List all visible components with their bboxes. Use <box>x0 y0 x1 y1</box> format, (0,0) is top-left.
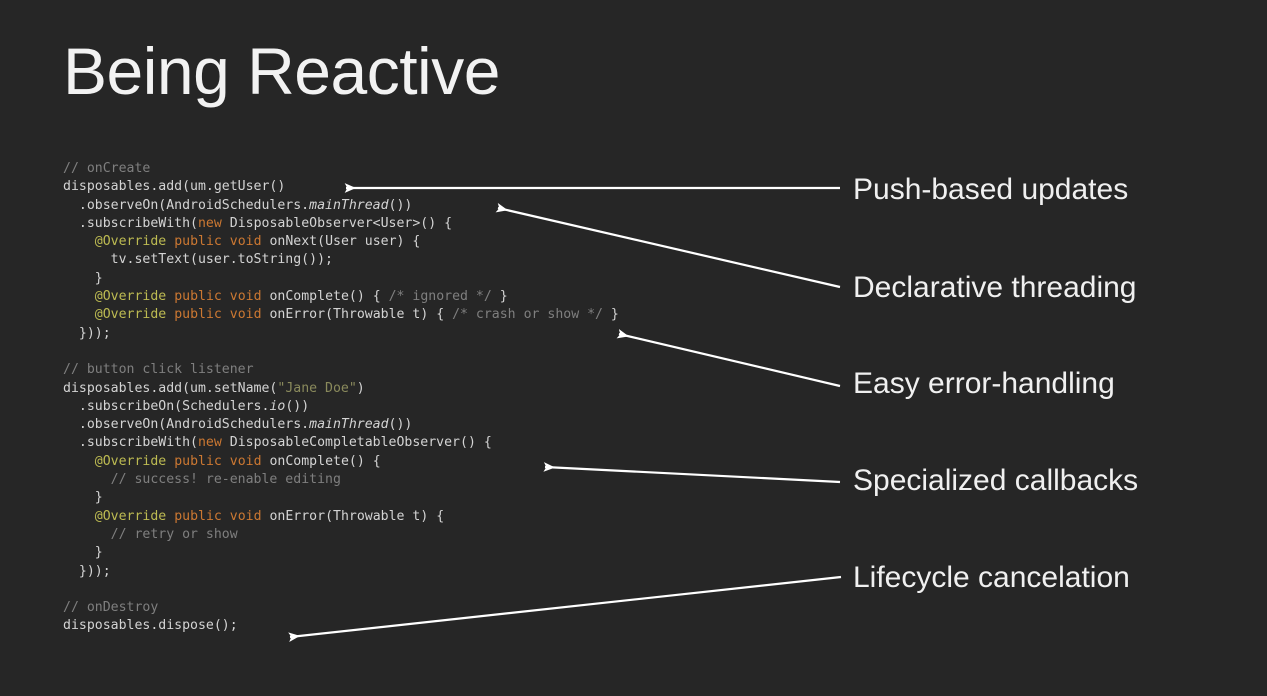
code-line <box>63 343 823 361</box>
code-line: disposables.dispose(); <box>63 617 823 635</box>
code-line: disposables.add(um.setName("Jane Doe") <box>63 380 823 398</box>
code-line: tv.setText(user.toString()); <box>63 251 823 269</box>
code-token: mainThread <box>309 198 388 213</box>
code-token: // onDestroy <box>63 600 158 615</box>
code-token <box>63 234 95 249</box>
code-token: })); <box>63 326 111 341</box>
code-token <box>222 509 230 524</box>
code-token: @Override <box>95 509 166 524</box>
code-line: @Override public void onError(Throwable … <box>63 306 823 324</box>
code-token: onComplete() { <box>262 454 381 469</box>
code-line: // retry or show <box>63 526 823 544</box>
code-token: ()) <box>389 198 413 213</box>
code-token: void <box>230 509 262 524</box>
code-line: @Override public void onComplete() { /* … <box>63 288 823 306</box>
code-token <box>63 454 95 469</box>
code-token: void <box>230 234 262 249</box>
code-line: disposables.add(um.getUser() <box>63 178 823 196</box>
code-token: mainThread <box>309 417 388 432</box>
code-token: public <box>174 234 222 249</box>
annotation-label-1: Push-based updates <box>853 175 1128 205</box>
annotation-label-5: Lifecycle cancelation <box>853 563 1130 593</box>
code-line: .subscribeOn(Schedulers.io()) <box>63 398 823 416</box>
code-token <box>166 307 174 322</box>
code-token: ()) <box>285 399 309 414</box>
code-token <box>63 289 95 304</box>
code-token: public <box>174 454 222 469</box>
code-line: // button click listener <box>63 361 823 379</box>
code-token: @Override <box>95 307 166 322</box>
code-token <box>222 234 230 249</box>
code-token: public <box>174 289 222 304</box>
code-token: disposables.add(um.setName( <box>63 381 277 396</box>
code-token: @Override <box>95 454 166 469</box>
code-token: } <box>63 271 103 286</box>
code-token: } <box>63 545 103 560</box>
code-token: // retry or show <box>111 527 238 542</box>
code-token: // success! re-enable editing <box>111 472 341 487</box>
page-title: Being Reactive <box>63 38 500 104</box>
code-line: .subscribeWith(new DisposableCompletable… <box>63 434 823 452</box>
code-line: // success! re-enable editing <box>63 471 823 489</box>
code-line: .subscribeWith(new DisposableObserver<Us… <box>63 215 823 233</box>
code-token <box>63 527 111 542</box>
code-token: public <box>174 509 222 524</box>
code-token <box>166 289 174 304</box>
code-line: @Override public void onComplete() { <box>63 453 823 471</box>
code-token: .subscribeWith( <box>63 216 198 231</box>
code-token: // onCreate <box>63 161 150 176</box>
code-line <box>63 581 823 599</box>
code-token: /* ignored */ <box>389 289 492 304</box>
code-token <box>166 234 174 249</box>
code-line: @Override public void onError(Throwable … <box>63 508 823 526</box>
code-token: .subscribeWith( <box>63 435 198 450</box>
code-token: new <box>198 216 222 231</box>
code-line: })); <box>63 325 823 343</box>
code-token <box>63 472 111 487</box>
code-block: // onCreatedisposables.add(um.getUser() … <box>63 160 823 636</box>
code-token: .observeOn(AndroidSchedulers. <box>63 198 309 213</box>
code-token: } <box>63 490 103 505</box>
code-line: .observeOn(AndroidSchedulers.mainThread(… <box>63 416 823 434</box>
code-token <box>166 454 174 469</box>
code-token: disposables.add(um.getUser() <box>63 179 285 194</box>
code-token: "Jane Doe" <box>277 381 356 396</box>
code-token: } <box>492 289 508 304</box>
code-token: disposables.dispose(); <box>63 618 238 633</box>
code-token: new <box>198 435 222 450</box>
code-token: } <box>603 307 619 322</box>
code-line: })); <box>63 563 823 581</box>
code-token: tv.setText(user.toString()); <box>63 252 333 267</box>
code-token: onNext(User user) { <box>262 234 421 249</box>
code-token: .observeOn(AndroidSchedulers. <box>63 417 309 432</box>
code-token <box>222 454 230 469</box>
annotation-label-2: Declarative threading <box>853 273 1137 303</box>
code-token: ()) <box>389 417 413 432</box>
code-line: @Override public void onNext(User user) … <box>63 233 823 251</box>
code-token: ) <box>357 381 365 396</box>
annotation-label-3: Easy error-handling <box>853 369 1115 399</box>
code-token: DisposableObserver<User>() { <box>222 216 452 231</box>
code-token: public <box>174 307 222 322</box>
code-token: /* crash or show */ <box>452 307 603 322</box>
code-line: .observeOn(AndroidSchedulers.mainThread(… <box>63 197 823 215</box>
annotation-label-4: Specialized callbacks <box>853 466 1138 496</box>
code-line: } <box>63 270 823 288</box>
code-token: io <box>269 399 285 414</box>
code-line: } <box>63 544 823 562</box>
code-token <box>166 509 174 524</box>
code-token <box>63 509 95 524</box>
code-token: void <box>230 307 262 322</box>
code-token <box>63 307 95 322</box>
code-token: DisposableCompletableObserver() { <box>222 435 492 450</box>
code-token: .subscribeOn(Schedulers. <box>63 399 269 414</box>
code-token: })); <box>63 564 111 579</box>
code-line: } <box>63 489 823 507</box>
code-token <box>222 289 230 304</box>
code-token: @Override <box>95 234 166 249</box>
code-token: onError(Throwable t) { <box>262 307 453 322</box>
code-line: // onDestroy <box>63 599 823 617</box>
code-token: void <box>230 454 262 469</box>
code-token: onError(Throwable t) { <box>262 509 445 524</box>
code-token: // button click listener <box>63 362 254 377</box>
code-token: @Override <box>95 289 166 304</box>
code-token <box>222 307 230 322</box>
code-token: void <box>230 289 262 304</box>
code-line: // onCreate <box>63 160 823 178</box>
code-token: onComplete() { <box>262 289 389 304</box>
